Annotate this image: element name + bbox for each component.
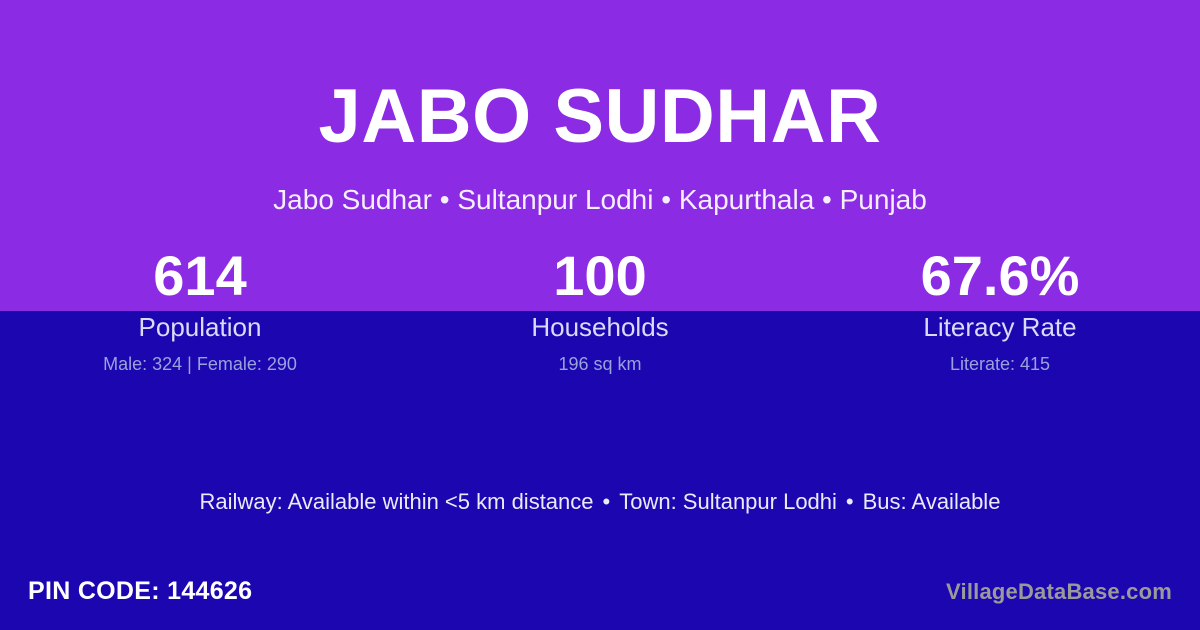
stat-value: 67.6% <box>800 245 1200 308</box>
stat-label: Households <box>400 311 800 344</box>
brand-watermark: VillageDataBase.com <box>946 578 1172 607</box>
stat-value: 614 <box>0 245 400 308</box>
stat-sublabel: 196 sq km <box>400 353 800 376</box>
amenity-railway: Railway: Available within <5 km distance <box>200 489 594 514</box>
stats-row: 614 Population Male: 324 | Female: 290 1… <box>0 245 1200 377</box>
stat-sublabel: Literate: 415 <box>800 353 1200 376</box>
amenity-separator: • <box>594 489 620 514</box>
stat-sublabel: Male: 324 | Female: 290 <box>0 353 400 376</box>
stat-value: 100 <box>400 245 800 308</box>
stat-literacy-rate: 67.6% Literacy Rate Literate: 415 <box>800 245 1200 377</box>
stat-label: Literacy Rate <box>800 311 1200 344</box>
amenities-line: Railway: Available within <5 km distance… <box>0 487 1200 517</box>
amenity-bus: Bus: Available <box>863 489 1001 514</box>
pin-code: PIN CODE: 144626 <box>28 575 252 608</box>
stat-population: 614 Population Male: 324 | Female: 290 <box>0 245 400 377</box>
footer: PIN CODE: 144626 VillageDataBase.com <box>0 575 1200 620</box>
village-info-card: JABO SUDHAR Jabo Sudhar • Sultanpur Lodh… <box>0 0 1200 630</box>
stat-households: 100 Households 196 sq km <box>400 245 800 377</box>
breadcrumb: Jabo Sudhar • Sultanpur Lodhi • Kapurtha… <box>0 182 1200 218</box>
page-title: JABO SUDHAR <box>0 79 1200 155</box>
amenity-separator: • <box>837 489 863 514</box>
stat-label: Population <box>0 311 400 344</box>
amenity-town: Town: Sultanpur Lodhi <box>619 489 837 514</box>
